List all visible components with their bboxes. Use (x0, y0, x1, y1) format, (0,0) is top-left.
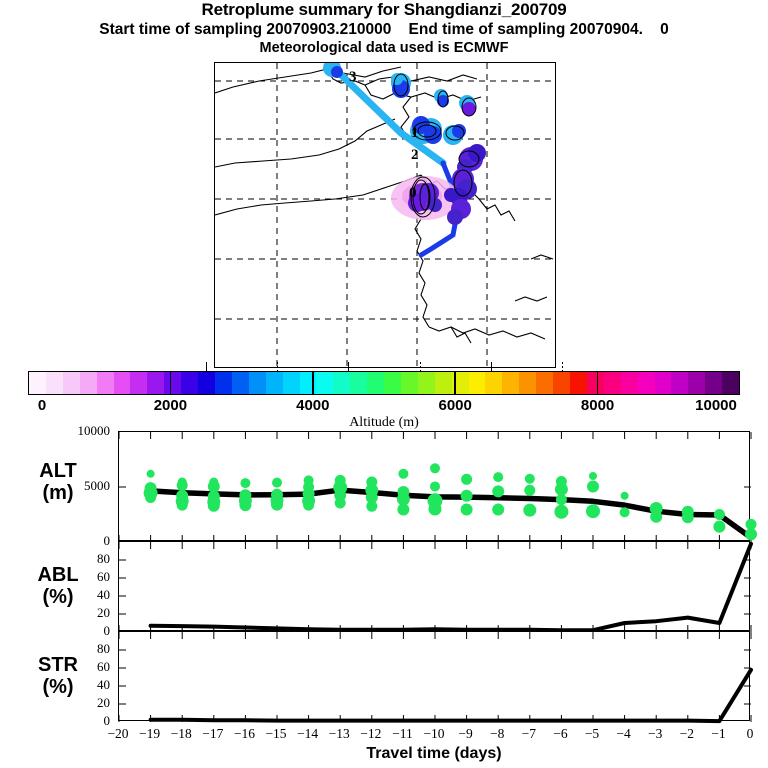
colorbar-separator (312, 371, 314, 395)
colorbar-band-20 (367, 372, 384, 394)
colorbar-band-36 (638, 372, 655, 394)
colorbar-label-2000: 2000 (154, 397, 187, 414)
colorbar-band-15 (283, 372, 300, 394)
alt-ytick-10000: 10000 (78, 423, 111, 439)
colorbar-band-39 (688, 372, 705, 394)
str-ytick-20: 20 (97, 695, 110, 711)
abl-ytick-60: 60 (97, 569, 110, 585)
colorbar-band-12 (232, 372, 249, 394)
str-ytick-40: 40 (97, 677, 110, 693)
xtick--19: −19 (139, 726, 160, 742)
colorbar-band-1 (46, 372, 63, 394)
colorbar-band-32 (570, 372, 587, 394)
alt-plot-area (119, 432, 751, 542)
xtick--18: −18 (171, 726, 192, 742)
str-yticks (119, 650, 751, 704)
colorbar-band-38 (671, 372, 688, 394)
colorbar-band-8 (164, 372, 181, 394)
colorbar-band-21 (384, 372, 401, 394)
alt-ytick-5000: 5000 (84, 478, 110, 494)
colorbar-band-34 (604, 372, 621, 394)
colorbar-band-19 (350, 372, 367, 394)
colorbar-tick (348, 362, 349, 371)
colorbar-band-0 (29, 372, 46, 394)
colorbar-separator (597, 371, 599, 395)
alt-panel[interactable] (118, 431, 750, 541)
cluster-label-3: 3 (349, 69, 357, 86)
colorbar-band-7 (147, 372, 164, 394)
str-panel[interactable] (118, 631, 750, 721)
colorbar-band-16 (300, 372, 317, 394)
xtick--13: −13 (329, 726, 350, 742)
abl-xticks (119, 542, 751, 632)
colorbar-band-28 (502, 372, 519, 394)
colorbar-band-22 (401, 372, 418, 394)
cluster-label-1: 1 (411, 125, 419, 142)
map-coastlines (215, 67, 553, 343)
page-title: Retroplume summary for Shangdianzi_20070… (0, 0, 768, 20)
sampling-time-line: Start time of sampling 20070903.210000 E… (0, 20, 768, 39)
abl-yticks (119, 560, 751, 614)
colorbar-label-4000: 4000 (296, 397, 329, 414)
xtick--11: −11 (392, 726, 413, 742)
map-canvas (215, 63, 555, 367)
xtick--1: −1 (711, 726, 725, 742)
colorbar-band-23 (418, 372, 435, 394)
xtick--16: −16 (234, 726, 255, 742)
xtick--9: −9 (458, 726, 472, 742)
colorbar-band-30 (536, 372, 553, 394)
colorbar-band-3 (80, 372, 97, 394)
colorbar-tick (491, 362, 492, 371)
abl-ytick-40: 40 (97, 587, 110, 603)
colorbar-band-29 (519, 372, 536, 394)
colorbar-band-33 (587, 372, 604, 394)
abl-ytick-80: 80 (97, 551, 110, 567)
cluster-label-0: 0 (409, 185, 417, 202)
xtick--14: −14 (297, 726, 318, 742)
colorbar-band-17 (316, 372, 333, 394)
colorbar-band-40 (705, 372, 722, 394)
colorbar-band-14 (266, 372, 283, 394)
colorbar-band-27 (485, 372, 502, 394)
xtick--15: −15 (265, 726, 286, 742)
abl-panel[interactable] (118, 541, 750, 631)
colorbar-band-18 (333, 372, 350, 394)
colorbar-label-0: 0 (38, 397, 46, 414)
abl-plot-area (119, 542, 751, 632)
colorbar-tick (277, 362, 278, 371)
colorbar-band-26 (469, 372, 486, 394)
colorbar-band-11 (215, 372, 232, 394)
colorbar-separator (170, 371, 172, 395)
map-graticule (215, 63, 555, 367)
str-xticks (119, 632, 751, 722)
altitude-colorbar: 0200040006000800010000 Altitude (m) (28, 371, 740, 395)
str-ytick-60: 60 (97, 659, 110, 675)
colorbar-label-6000: 6000 (439, 397, 472, 414)
xtick--12: −12 (360, 726, 381, 742)
colorbar-gradient (28, 371, 740, 395)
xtick--2: −2 (680, 726, 694, 742)
xtick--10: −10 (423, 726, 444, 742)
xtick--5: −5 (585, 726, 599, 742)
xtick--4: −4 (616, 726, 630, 742)
xtick--17: −17 (202, 726, 223, 742)
xtick-0: 0 (747, 726, 754, 742)
colorbar-separator (454, 371, 456, 395)
figure-titles: Retroplume summary for Shangdianzi_20070… (0, 0, 768, 57)
str-ytick-80: 80 (97, 641, 110, 657)
colorbar-band-2 (63, 372, 80, 394)
str-plot-area (119, 632, 751, 722)
colorbar-band-13 (249, 372, 266, 394)
colorbar-tick (206, 362, 207, 371)
colorbar-band-35 (621, 372, 638, 394)
colorbar-band-5 (114, 372, 131, 394)
colorbar-band-4 (97, 372, 114, 394)
retroplume-figure: Retroplume summary for Shangdianzi_20070… (0, 0, 768, 768)
colorbar-band-41 (722, 372, 739, 394)
xtick--20: −20 (107, 726, 128, 742)
colorbar-tick (562, 362, 563, 371)
colorbar-label-10000: 10000 (695, 397, 737, 414)
xtick--7: −7 (522, 726, 536, 742)
met-data-line: Meteorological data used is ECMWF (0, 39, 768, 57)
alt-ytick-labels: 0500010000 (62, 431, 110, 541)
str-ytick-labels: 020406080 (62, 631, 110, 721)
alt-scatter-points (144, 463, 757, 540)
xtick--8: −8 (490, 726, 504, 742)
abl-ytick-20: 20 (97, 605, 110, 621)
colorbar-tick (420, 362, 421, 371)
colorbar-title: Altitude (m) (28, 415, 740, 431)
retroplume-map[interactable]: 0 1 2 3 (214, 62, 556, 368)
colorbar-band-31 (553, 372, 570, 394)
abl-ytick-labels: 020406080 (62, 541, 110, 631)
colorbar-band-24 (435, 372, 452, 394)
colorbar-band-10 (198, 372, 215, 394)
colorbar-band-9 (181, 372, 198, 394)
abl-mean-line (151, 544, 751, 630)
xtick--3: −3 (648, 726, 662, 742)
colorbar-band-6 (130, 372, 147, 394)
colorbar-band-37 (655, 372, 672, 394)
x-axis-title: Travel time (days) (118, 745, 750, 763)
xtick--6: −6 (553, 726, 567, 742)
str-mean-line (151, 670, 751, 721)
colorbar-label-8000: 8000 (581, 397, 614, 414)
cluster-label-2: 2 (411, 147, 419, 164)
